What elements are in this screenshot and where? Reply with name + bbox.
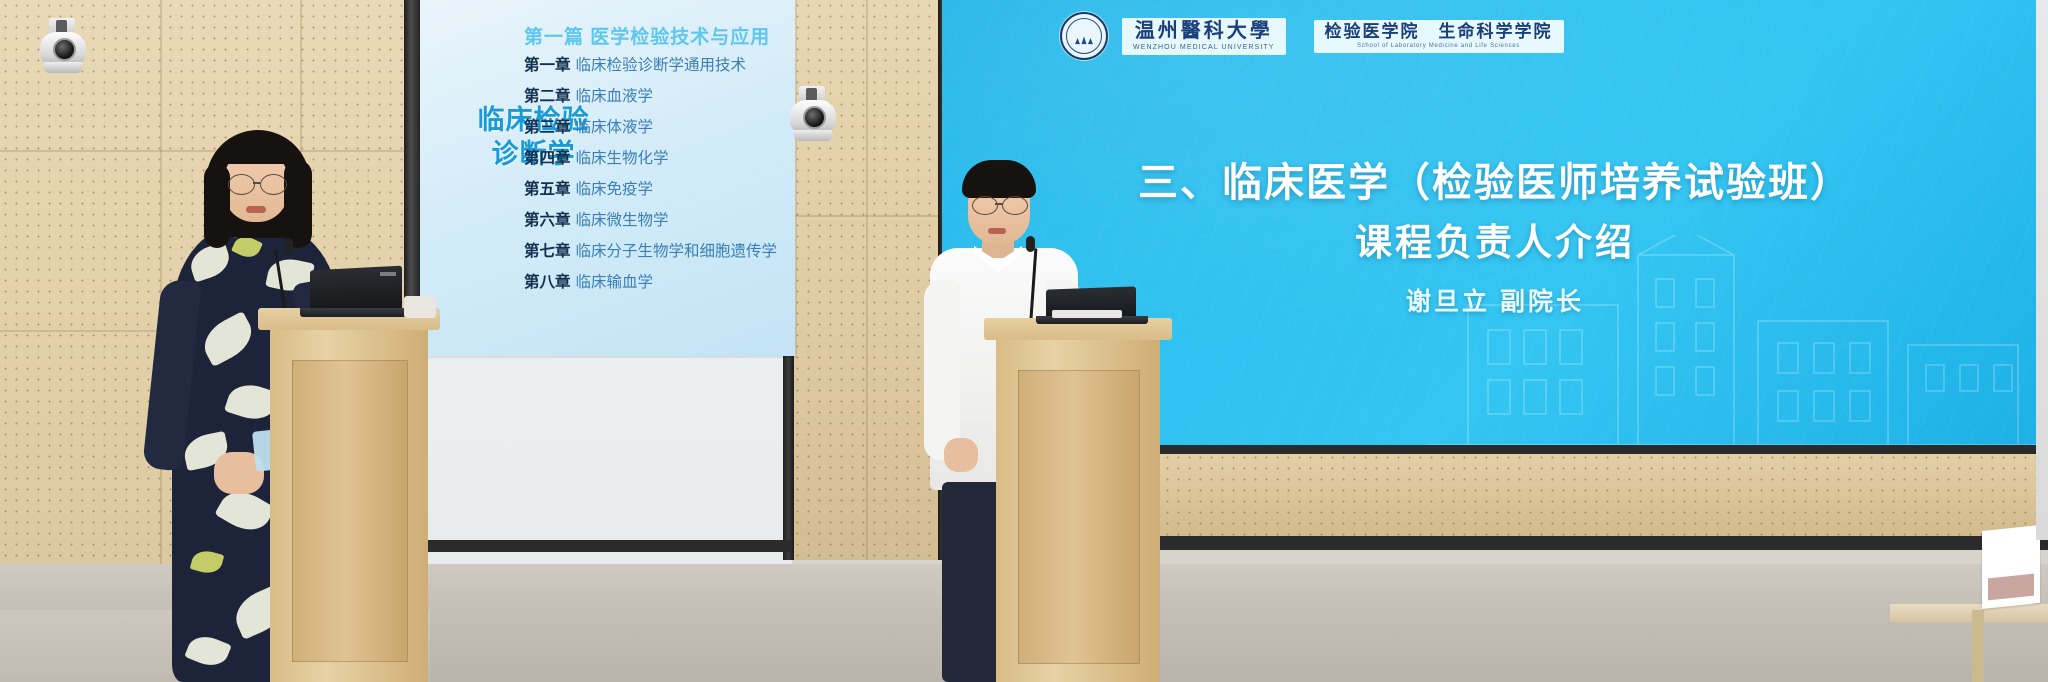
microphone-head-left xyxy=(284,238,293,254)
presenter-right-glasses-icon xyxy=(972,196,998,215)
microphone-head-right xyxy=(1026,236,1035,252)
name-card-tent xyxy=(1982,525,2040,609)
floral-motif xyxy=(197,311,260,367)
presenter-right-arm xyxy=(924,280,960,460)
left-slide-chapter-list: 第一章临床检验诊断学通用技术 第二章临床血液学 第三章临床体液学 第四章临床生物… xyxy=(524,58,824,306)
presenter-right-mouth xyxy=(988,228,1006,234)
chapter-row: 第八章临床输血学 xyxy=(524,275,824,291)
chapter-row: 第二章临床血液学 xyxy=(524,89,824,105)
chapter-row: 第四章临床生物化学 xyxy=(524,151,824,167)
chapter-text: 临床输血学 xyxy=(576,274,654,291)
right-wall-sliver xyxy=(2036,0,2048,540)
university-name-cn: 温州醫科大學 xyxy=(1135,21,1273,41)
camera-base xyxy=(44,62,82,73)
ptz-camera-left xyxy=(40,18,86,78)
paper-sheet-right xyxy=(1052,310,1122,318)
chapter-label: 第八章 xyxy=(524,274,571,291)
chapter-label: 第六章 xyxy=(524,212,571,229)
chapter-text: 临床微生物学 xyxy=(576,212,669,229)
left-slide-section-heading: 第一篇 医学检验技术与应用 xyxy=(524,22,770,49)
paper-sheet-left xyxy=(404,296,436,318)
lectern-left xyxy=(258,308,440,682)
lectern-left-panel xyxy=(292,360,408,662)
chapter-row: 第三章临床体液学 xyxy=(524,120,824,136)
side-table-leg xyxy=(1972,610,1984,682)
camera-lens-icon xyxy=(803,106,826,129)
chapter-label: 第三章 xyxy=(524,119,571,136)
school-name-plate: 检验医学院 生命科学学院 School of Laboratory Medici… xyxy=(1314,20,1564,53)
presenter-left-glasses-icon xyxy=(260,174,287,195)
university-seal-icon xyxy=(1060,12,1108,60)
floral-motif xyxy=(190,547,225,576)
lecture-hall-photo: 临床检验 诊断学 第一篇 医学检验技术与应用 第一章临床检验诊断学通用技术 第二… xyxy=(0,0,2048,682)
school-name-en: School of Laboratory Medicine and Life S… xyxy=(1357,43,1520,49)
chapter-text: 临床体液学 xyxy=(576,119,654,136)
presenter-left-fringe xyxy=(216,136,300,164)
chapter-label: 第四章 xyxy=(524,150,571,167)
chapter-text: 临床血液学 xyxy=(576,88,654,105)
laptop-left-logo xyxy=(380,272,396,276)
lectern-right xyxy=(984,318,1172,682)
camera-base xyxy=(794,130,832,141)
chapter-text: 临床检验诊断学通用技术 xyxy=(576,57,747,74)
laptop-left-base xyxy=(300,308,416,317)
chapter-text: 临床生物化学 xyxy=(576,150,669,167)
school-name-cn: 检验医学院 生命科学学院 xyxy=(1325,23,1553,40)
presenter-left-glasses-icon xyxy=(228,174,255,195)
panel-seam xyxy=(866,0,868,560)
logo-group: 温州醫科大學 WENZHOU MEDICAL UNIVERSITY 检验医学院 … xyxy=(1060,12,1564,60)
name-card-accent xyxy=(1988,574,2034,601)
campus-building-line-art xyxy=(1428,235,2048,445)
floral-motif xyxy=(184,631,232,672)
university-name-plate: 温州醫科大學 WENZHOU MEDICAL UNIVERSITY xyxy=(1122,18,1286,55)
chapter-row: 第一章临床检验诊断学通用技术 xyxy=(524,58,824,74)
university-name-en: WENZHOU MEDICAL UNIVERSITY xyxy=(1133,44,1275,51)
side-table xyxy=(1890,604,2048,622)
chapter-label: 第一章 xyxy=(524,57,571,74)
chapter-label: 第五章 xyxy=(524,181,571,198)
presenter-left-glasses-bridge xyxy=(253,182,260,184)
presenter-right-hand xyxy=(944,438,978,472)
chapter-label: 第二章 xyxy=(524,88,571,105)
presenter-left-hair-side xyxy=(284,160,312,248)
presenter-right-glasses-icon xyxy=(1002,196,1028,215)
chapter-row: 第五章临床免疫学 xyxy=(524,182,824,198)
presenter-right-glasses-bridge xyxy=(995,203,1003,205)
presenter-left-mouth xyxy=(246,206,266,213)
presenter-left-hair-side xyxy=(204,164,230,248)
presenter-right-hair xyxy=(962,160,1036,198)
ptz-camera-right xyxy=(790,86,836,146)
chapter-text: 临床免疫学 xyxy=(576,181,654,198)
lectern-right-panel xyxy=(1018,370,1140,664)
baseboard-center xyxy=(420,540,792,552)
chapter-row: 第六章临床微生物学 xyxy=(524,213,824,229)
chapter-text: 临床分子生物学和细胞遗传学 xyxy=(576,243,778,260)
projection-screen-left: 临床检验 诊断学 第一篇 医学检验技术与应用 第一章临床检验诊断学通用技术 第二… xyxy=(420,0,795,356)
chapter-row: 第七章临床分子生物学和细胞遗传学 xyxy=(524,244,824,260)
floral-motif xyxy=(186,242,233,283)
camera-lens-icon xyxy=(53,38,76,61)
chapter-label: 第七章 xyxy=(524,243,571,260)
